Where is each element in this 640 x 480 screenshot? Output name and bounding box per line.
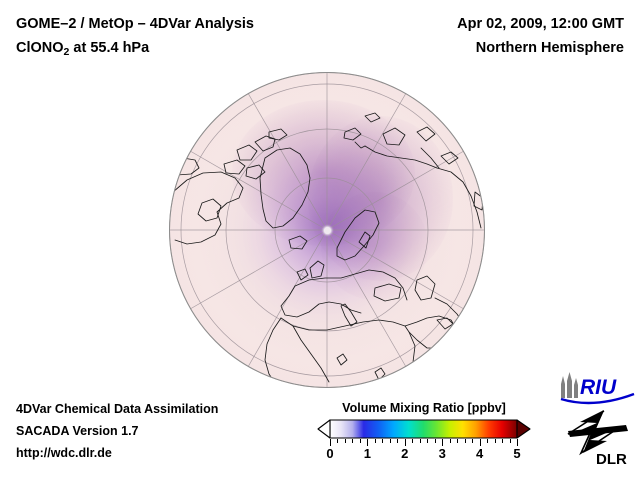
colorbar-major-tick bbox=[517, 439, 518, 446]
colorbar-tick-label: 2 bbox=[401, 446, 408, 461]
clono2-plume-siberia bbox=[308, 116, 453, 280]
colorbar: Volume Mixing Ratio [ppbv] bbox=[317, 400, 531, 464]
colorbar-minor-tick bbox=[495, 439, 496, 443]
species-level: at 55.4 hPa bbox=[69, 40, 149, 56]
colorbar-minor-tick bbox=[465, 439, 466, 443]
north-pole-marker bbox=[324, 227, 331, 234]
region-label: Northern Hemisphere bbox=[457, 36, 624, 60]
riu-towers-icon bbox=[561, 372, 578, 398]
globe-sphere bbox=[169, 72, 485, 388]
colorbar-minor-tick bbox=[472, 439, 473, 443]
colorbar-minor-tick bbox=[360, 439, 361, 443]
riu-wordmark: RIU bbox=[580, 376, 617, 399]
riu-logo: RIU bbox=[558, 371, 636, 407]
colorbar-tick-labels: 012345 bbox=[317, 446, 531, 464]
colorbar-tick-label: 5 bbox=[513, 446, 520, 461]
colorbar-major-tick bbox=[330, 439, 331, 446]
colorbar-title: Volume Mixing Ratio [ppbv] bbox=[317, 400, 531, 416]
colorbar-svg bbox=[317, 419, 531, 439]
figure-canvas: GOME–2 / MetOp – 4DVar Analysis ClONO2 a… bbox=[0, 0, 640, 480]
colorbar-minor-tick bbox=[427, 439, 428, 443]
colorbar-minor-tick bbox=[435, 439, 436, 443]
clono2-plume-eurasia bbox=[321, 192, 428, 299]
header-right: Apr 02, 2009, 12:00 GMT Northern Hemisph… bbox=[457, 12, 624, 60]
colorbar-minor-tick bbox=[457, 439, 458, 443]
colorbar-tick-label: 1 bbox=[364, 446, 371, 461]
dlr-logo-svg: DLR bbox=[560, 409, 636, 467]
globe-map bbox=[169, 72, 485, 388]
colorbar-minor-tick bbox=[375, 439, 376, 443]
colorbar-major-tick bbox=[442, 439, 443, 446]
timestamp-label: Apr 02, 2009, 12:00 GMT bbox=[457, 12, 624, 36]
credit-url[interactable]: http://wdc.dlr.de bbox=[16, 442, 218, 464]
species-name: ClONO bbox=[16, 40, 64, 56]
species-level-label: ClONO2 at 55.4 hPa bbox=[16, 36, 254, 64]
colorbar-minor-tick bbox=[352, 439, 353, 443]
colorbar-major-tick bbox=[405, 439, 406, 446]
colorbar-minor-tick bbox=[510, 439, 511, 443]
colorbar-minor-tick bbox=[502, 439, 503, 443]
colorbar-minor-tick bbox=[390, 439, 391, 443]
colorbar-minor-tick bbox=[487, 439, 488, 443]
colorbar-minor-tick bbox=[337, 439, 338, 443]
colorbar-tick-label: 4 bbox=[476, 446, 483, 461]
colorbar-major-tick bbox=[367, 439, 368, 446]
colorbar-minor-tick bbox=[382, 439, 383, 443]
clono2-plume-greenland bbox=[232, 100, 415, 245]
analysis-title: GOME–2 / MetOp – 4DVar Analysis bbox=[16, 12, 254, 36]
credit-version: SACADA Version 1.7 bbox=[16, 420, 218, 442]
colorbar-minor-tick bbox=[345, 439, 346, 443]
colorbar-tick-label: 3 bbox=[439, 446, 446, 461]
dlr-logo: DLR bbox=[560, 409, 636, 467]
colorbar-minor-tick bbox=[412, 439, 413, 443]
coastlines bbox=[171, 113, 483, 386]
credit-assimilation: 4DVar Chemical Data Assimilation bbox=[16, 398, 218, 420]
colorbar-minor-tick bbox=[450, 439, 451, 443]
credits-block: 4DVar Chemical Data Assimilation SACADA … bbox=[16, 398, 218, 464]
colorbar-minor-tick bbox=[420, 439, 421, 443]
colorbar-gradient bbox=[317, 419, 531, 439]
colorbar-major-tick bbox=[480, 439, 481, 446]
colorbar-tick-label: 0 bbox=[326, 446, 333, 461]
dlr-wordmark: DLR bbox=[596, 451, 627, 467]
colorbar-ticks bbox=[317, 439, 531, 446]
header-left: GOME–2 / MetOp – 4DVar Analysis ClONO2 a… bbox=[16, 12, 254, 64]
colorbar-minor-tick bbox=[397, 439, 398, 443]
riu-logo-svg: RIU bbox=[558, 371, 636, 407]
